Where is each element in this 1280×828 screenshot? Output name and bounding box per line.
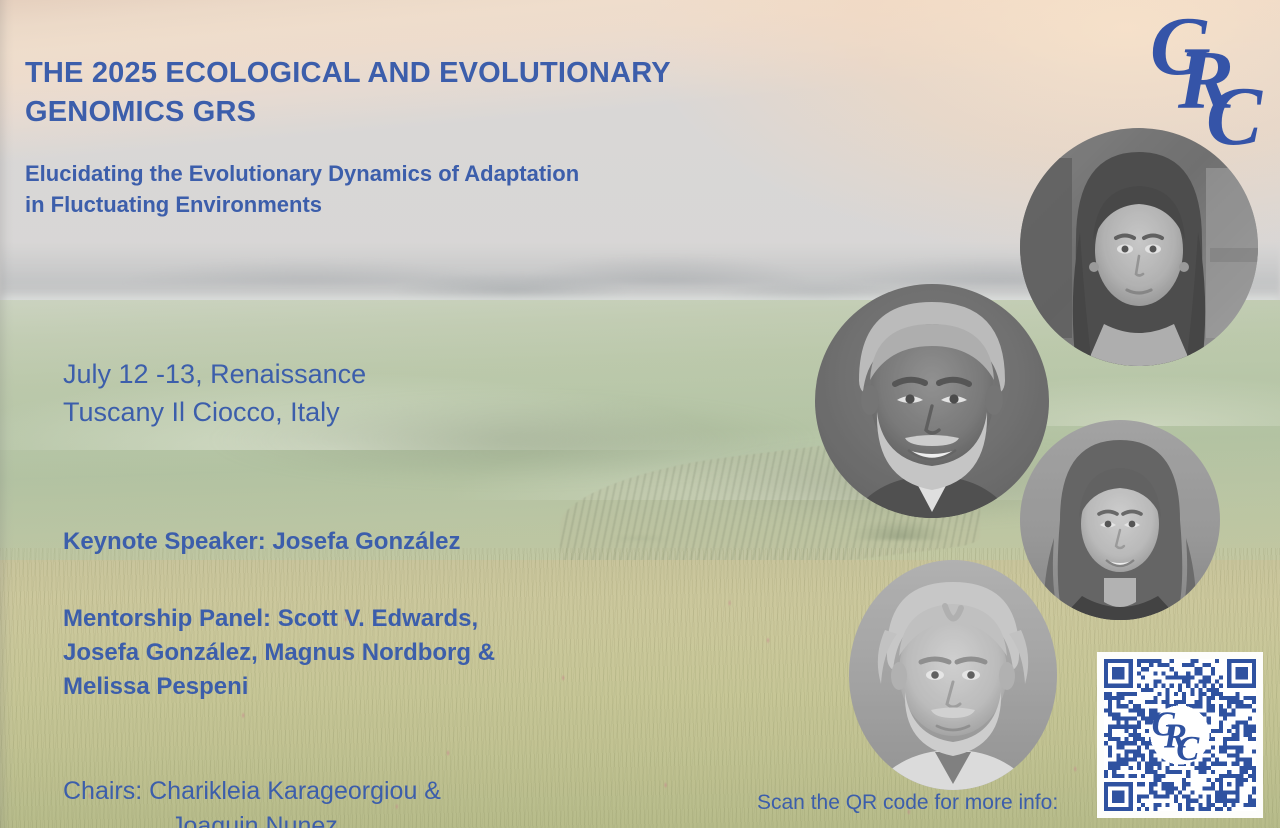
svg-text:C: C — [1176, 730, 1200, 768]
background-left-seam — [0, 0, 14, 828]
poster-subtitle: Elucidating the Evolutionary Dynamics of… — [25, 158, 579, 220]
qr-code-caption: Scan the QR code for more info: — [757, 791, 1058, 815]
portrait-scott-v-edwards — [815, 284, 1049, 518]
qr-code-icon[interactable]: G R C — [1097, 652, 1263, 818]
portrait-josefa-gonzalez — [1020, 128, 1258, 366]
portrait-magnus-nordborg — [849, 560, 1057, 790]
chairs-block: Chairs: Charikleia Karageorgiou & Joaqui… — [63, 738, 441, 828]
portrait-overlay-veil — [849, 560, 1057, 790]
keynote-speaker: Keynote Speaker: Josefa González — [63, 528, 460, 556]
chairs-line-2: Joaquin Nunez — [63, 809, 441, 828]
date-and-venue: July 12 -13, Renaissance Tuscany Il Cioc… — [63, 355, 366, 432]
portrait-overlay-veil — [1020, 128, 1258, 366]
mentorship-panel: Mentorship Panel: Scott V. Edwards, Jose… — [63, 602, 495, 704]
chairs-line-1: Chairs: Charikleia Karageorgiou & — [63, 777, 441, 805]
conference-poster: G R C — [0, 0, 1280, 828]
portrait-overlay-veil — [815, 284, 1049, 518]
page-title: THE 2025 ECOLOGICAL AND EVOLUTIONARY GEN… — [25, 54, 671, 131]
